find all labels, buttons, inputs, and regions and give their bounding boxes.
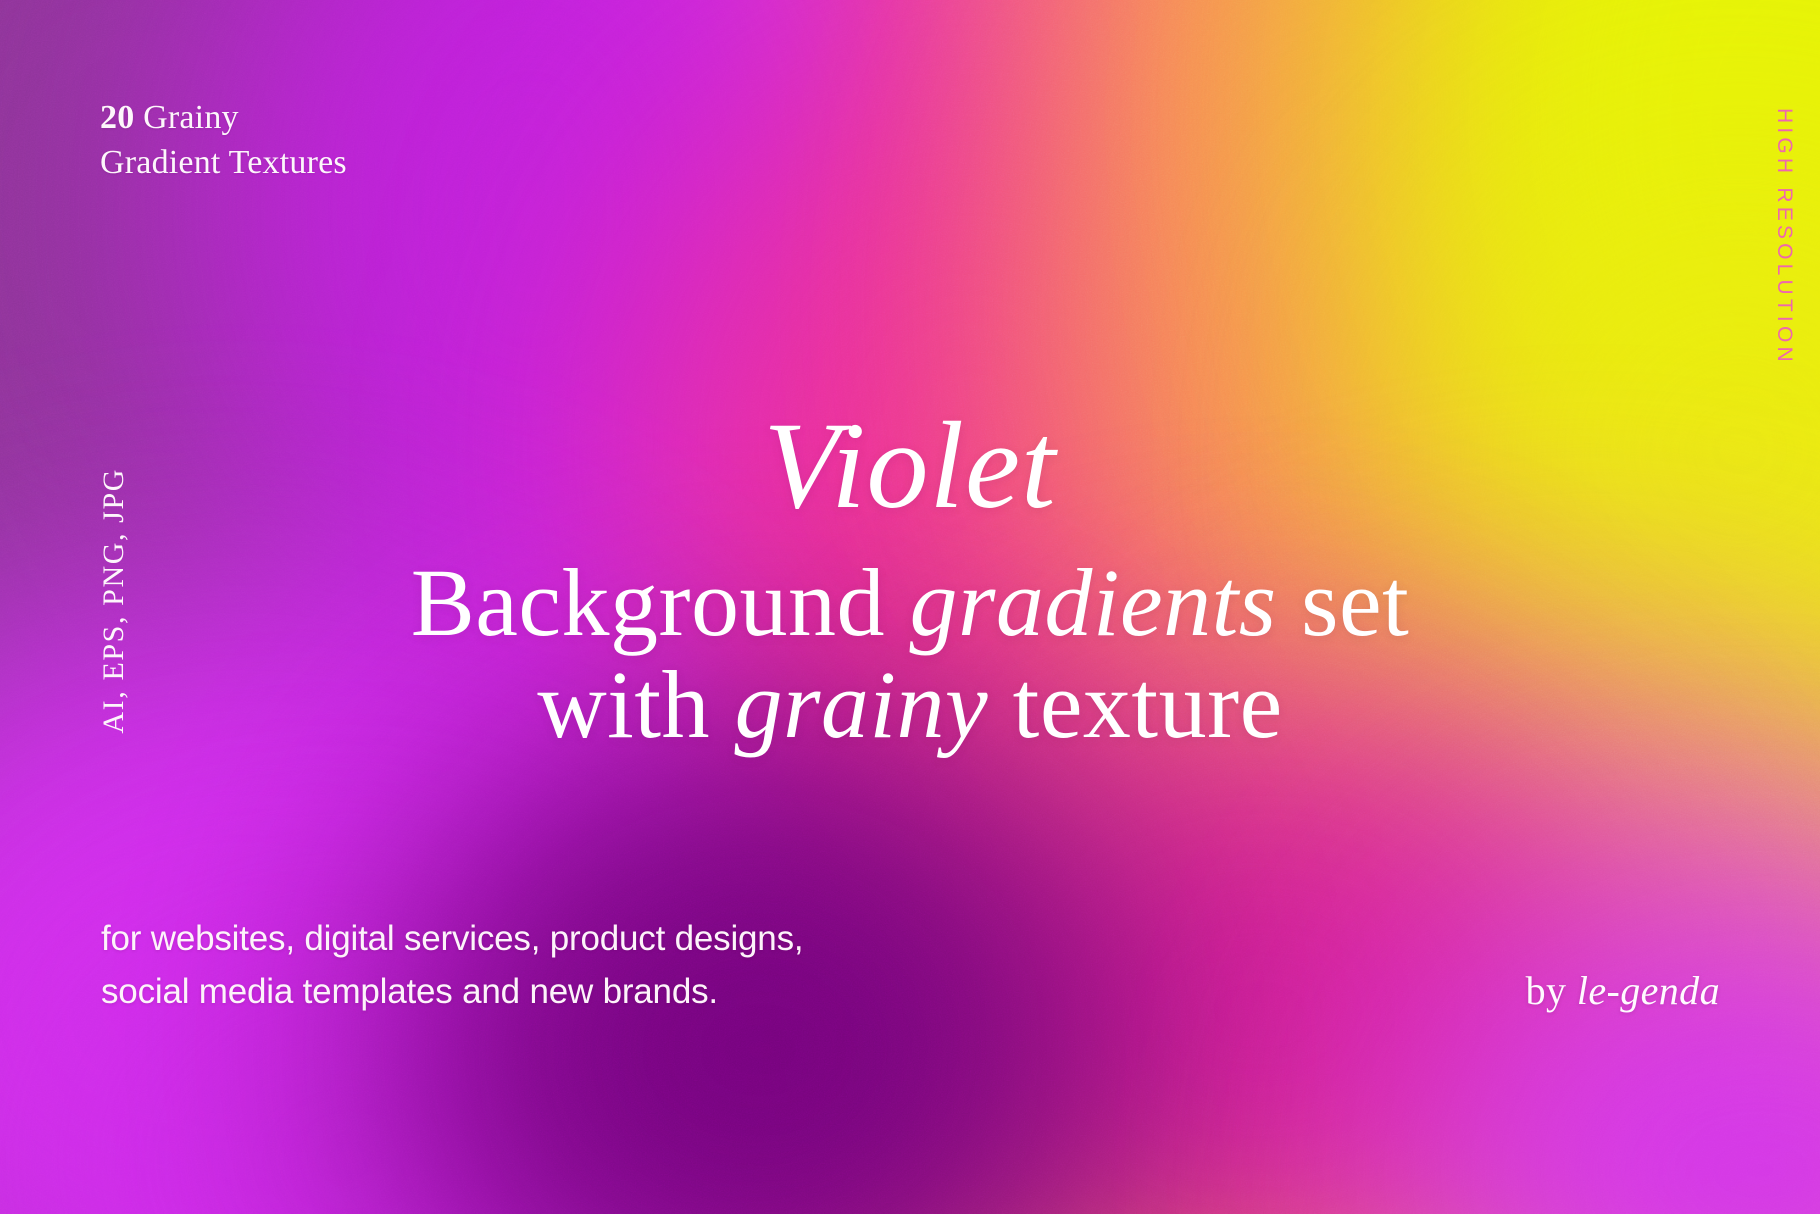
hero-line-1-part-b: set (1277, 549, 1410, 656)
high-resolution-label: HIGH RESOLUTION (1772, 108, 1796, 366)
kicker-block: 20 Grainy Gradient Textures (100, 96, 347, 186)
poster-content: 20 Grainy Gradient Textures AI, EPS, PNG… (0, 0, 1820, 1214)
kicker-line-1: 20 Grainy (100, 96, 347, 141)
hero-line-2-part-b: texture (988, 651, 1283, 758)
gradient-poster: 20 Grainy Gradient Textures AI, EPS, PNG… (0, 0, 1820, 1214)
author-credit-prefix: by (1526, 968, 1577, 1013)
author-credit-brand: le-genda (1577, 968, 1720, 1013)
kicker-count-suffix: Grainy (143, 99, 239, 136)
kicker-count: 20 (100, 99, 134, 136)
hero-line-2-part-a: with (537, 651, 734, 758)
hero-line-1: Background gradients set (0, 552, 1820, 654)
hero-line-1-emphasis: gradients (909, 549, 1276, 656)
hero-line-2: with grainy texture (0, 654, 1820, 756)
hero-word-violet: Violet (0, 404, 1820, 528)
tagline-line-2: social media templates and new brands. (101, 966, 803, 1019)
author-credit: by le-genda (1526, 967, 1720, 1014)
tagline-line-1: for websites, digital services, product … (101, 913, 803, 966)
kicker-line-2: Gradient Textures (100, 141, 347, 186)
tagline-block: for websites, digital services, product … (101, 913, 803, 1018)
hero-line-2-emphasis: grainy (735, 651, 989, 758)
hero-title-block: Violet Background gradients set with gra… (0, 404, 1820, 756)
hero-line-1-part-a: Background (411, 549, 910, 656)
